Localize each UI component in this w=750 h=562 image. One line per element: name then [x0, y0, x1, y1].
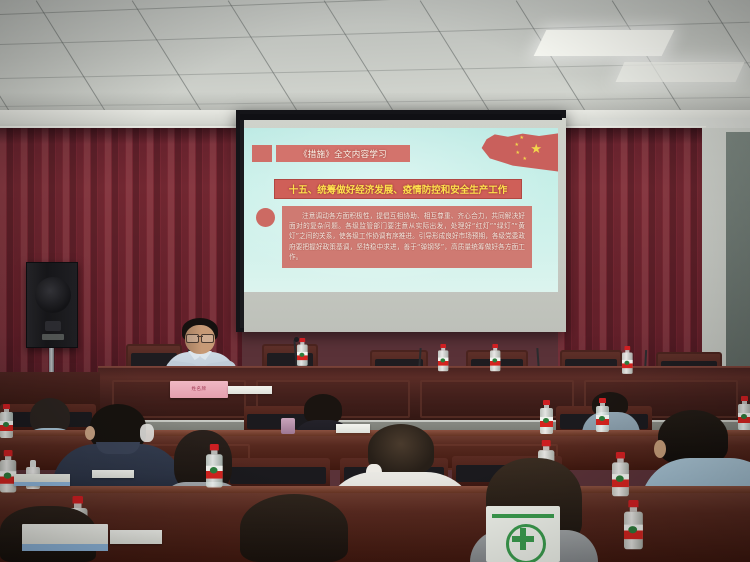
bottle-label	[206, 466, 223, 479]
bottle-label	[0, 421, 13, 431]
documents-front-blue-edge	[22, 544, 108, 551]
slide-section-heading: 十五、统筹做好经济发展、疫情防控和安全生产工作	[274, 179, 522, 199]
attendee-hair	[658, 410, 728, 464]
bottle-cap	[73, 496, 84, 504]
slide-body-panel: 注意调动各方面积极性，提倡互相协助、相互尊重、齐心合力，共同解决好面对的复杂问题…	[282, 206, 532, 268]
presentation-slide: ★ ★ ★ ★ ★ 《措施》全文内容学习 十五、统筹做好经济发展、疫情防控和安全…	[244, 128, 558, 292]
curtain-top-shadow-left	[0, 128, 242, 144]
bottle-label	[297, 352, 308, 360]
bottle-label	[490, 358, 500, 366]
door-frame	[726, 132, 750, 382]
slide-body-text: 注意调动各方面积极性，提倡互相协助、相互尊重、齐心合力，共同解决好面对的复杂问题…	[289, 211, 525, 262]
attendee-ear	[654, 440, 666, 458]
attendee-collar	[96, 442, 140, 454]
slide-title-accent-strip	[252, 145, 272, 162]
ceiling-light-panel-2	[616, 62, 745, 82]
attendee-ear-left	[85, 426, 95, 440]
slide-title-bar: 《措施》全文内容学习	[276, 145, 410, 162]
stack-of-documents-front-2	[110, 530, 162, 544]
flag-star-large: ★	[530, 143, 542, 156]
bottle-label	[438, 358, 448, 366]
speaker-tweeter	[45, 321, 61, 331]
attendee-front-center-woman	[228, 494, 360, 562]
suspended-tile-ceiling	[0, 0, 750, 118]
pa-loudspeaker	[26, 262, 78, 348]
bottle-label	[612, 474, 629, 487]
ceiling-light-panel	[534, 30, 675, 56]
chinese-national-flag-icon: ★ ★ ★ ★ ★	[480, 128, 558, 180]
conference-room-photo: ★ ★ ★ ★ ★ 《措施》全文内容学习 十五、统筹做好经济发展、疫情防控和安全…	[0, 0, 750, 562]
sanitizer-cap	[30, 460, 36, 467]
curtain-top-shadow-right	[558, 128, 702, 144]
flag-star-small-4: ★	[523, 157, 527, 162]
slide-bullet-dot	[256, 208, 275, 227]
bottle-label	[540, 417, 553, 427]
ceiling-grid-line-horizontal	[0, 0, 749, 15]
bottle-cap	[628, 500, 638, 507]
presenter-nameplate: 姓名牌	[170, 381, 228, 398]
speaker-woofer	[35, 277, 71, 313]
microphone-head-2	[294, 337, 299, 342]
bottle-label	[624, 525, 643, 540]
flag-star-small-1: ★	[520, 136, 524, 141]
green-logo-tote-bag	[486, 506, 560, 562]
pink-cup-row3	[281, 418, 295, 434]
documents-row2	[92, 470, 134, 478]
presenter-glasses	[186, 334, 214, 341]
bottle-label	[622, 360, 633, 368]
glasses-bridge	[197, 336, 203, 337]
nameplate-text: 姓名牌	[170, 386, 228, 392]
presenter-documents	[228, 386, 272, 394]
notebook-row2	[14, 474, 70, 486]
flag-star-small-3: ★	[516, 151, 520, 156]
projection-screen-top-bar	[240, 114, 562, 120]
flag-star-small-2: ★	[515, 143, 519, 148]
tote-logo-ring	[506, 524, 546, 562]
attendee-hair	[240, 494, 348, 562]
stack-of-documents-front	[22, 524, 108, 546]
attendee-mask-strap	[140, 424, 154, 442]
slide-title-text: 《措施》全文内容学习	[299, 148, 387, 160]
slide-heading-text: 十五、统筹做好经济发展、疫情防控和安全生产工作	[289, 182, 508, 196]
speaker-badge	[42, 334, 64, 340]
tote-logo-bar-top	[492, 514, 554, 518]
bottle-label	[596, 415, 609, 425]
